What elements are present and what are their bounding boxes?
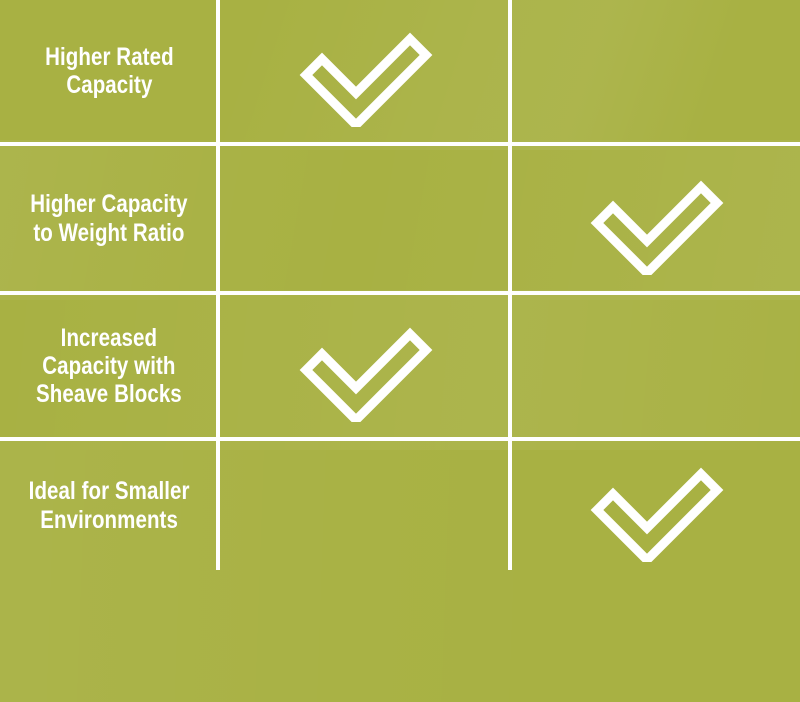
table-cell-option-b: [514, 441, 800, 570]
table-cell-option-b: [514, 146, 800, 291]
table-cell-option-a: [222, 0, 510, 142]
table-row-label-cell: Higher Capacity to Weight Ratio: [0, 146, 218, 291]
comparison-table-graphic: Higher Rated Capacity Higher Capacity to…: [0, 0, 800, 702]
checkmark-outline-icon: [587, 450, 727, 562]
feature-label: Higher Rated Capacity: [45, 43, 174, 100]
feature-label: Ideal for Smaller Environments: [29, 477, 190, 534]
table-cell-option-a: [222, 441, 510, 570]
table-row-label-cell: Higher Rated Capacity: [0, 0, 218, 142]
table-row-label-cell: Ideal for Smaller Environments: [0, 441, 218, 570]
table-row-label-cell: Increased Capacity with Sheave Blocks: [0, 295, 218, 437]
feature-label: Increased Capacity with Sheave Blocks: [36, 324, 182, 409]
table-cell-option-a: [222, 146, 510, 291]
checkmark-outline-icon: [296, 15, 436, 127]
feature-label: Higher Capacity to Weight Ratio: [30, 190, 187, 247]
checkmark-outline-icon: [296, 310, 436, 422]
table-cell-option-b: [514, 295, 800, 437]
checkmark-outline-icon: [587, 163, 727, 275]
table-cell-option-b: [514, 0, 800, 142]
table-cell-option-a: [222, 295, 510, 437]
